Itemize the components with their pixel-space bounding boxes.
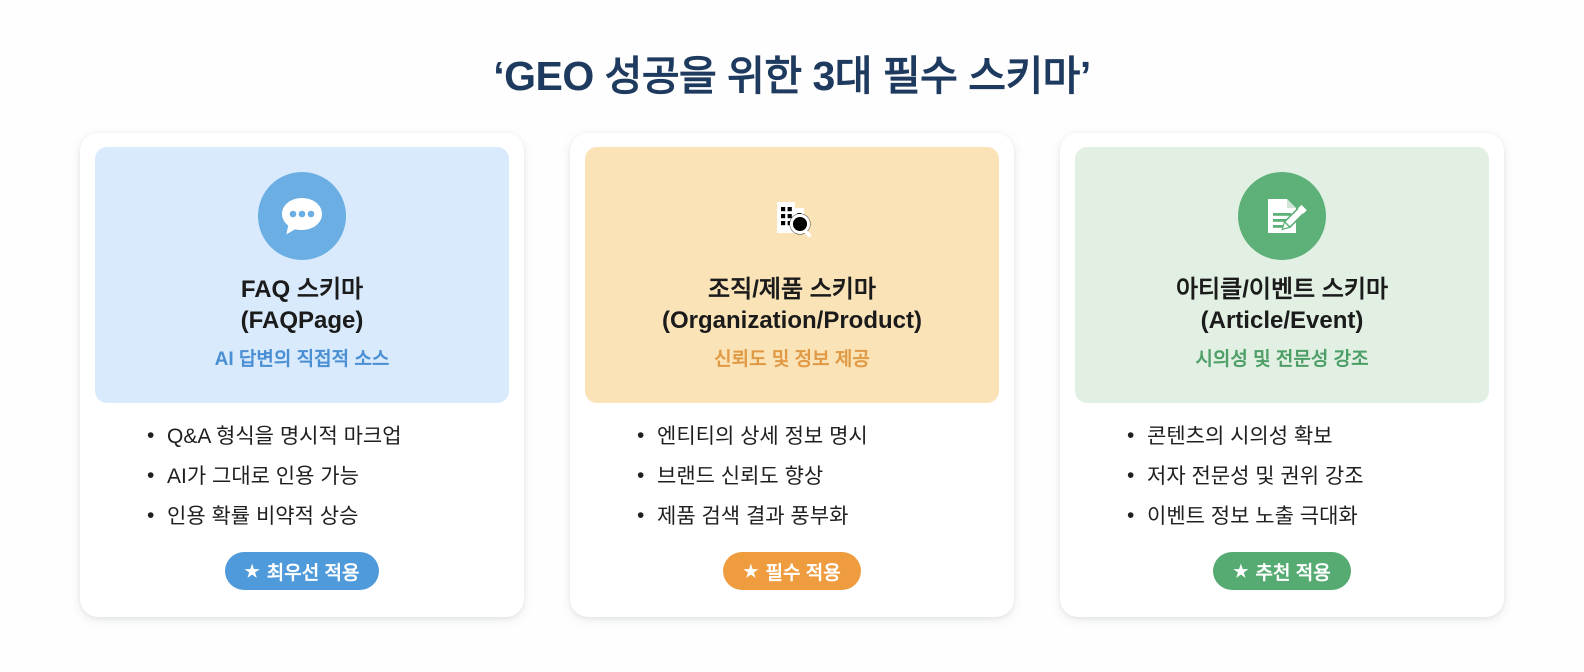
list-item: 브랜드 신뢰도 향상 (637, 466, 999, 487)
list-item: 이벤트 정보 노출 극대화 (1127, 506, 1489, 527)
infographic-canvas: ‘GEO 성공을 위한 3대 필수 스키마’ FAQ 스키마 (FAQPage) (0, 0, 1584, 672)
list-item: Q&A 형식을 명시적 마크업 (147, 426, 509, 447)
list-item: 콘텐츠의 시의성 확보 (1127, 426, 1489, 447)
card-header: 조직/제품 스키마 (Organization/Product) 신뢰도 및 정… (585, 147, 999, 403)
schema-card-organization-product[interactable]: 조직/제품 스키마 (Organization/Product) 신뢰도 및 정… (570, 133, 1014, 617)
card-subtitle: AI 답변의 직접적 소스 (215, 344, 390, 371)
badge-label: 추천 적용 (1256, 558, 1331, 585)
chat-bubble-icon (258, 172, 346, 260)
priority-badge[interactable]: ★ 최우선 적용 (225, 552, 380, 590)
building-search-icon (748, 172, 836, 260)
list-item: 제품 검색 결과 풍부화 (637, 506, 999, 527)
card-title: FAQ 스키마 (FAQPage) (241, 274, 364, 336)
card-title: 조직/제품 스키마 (Organization/Product) (662, 274, 922, 336)
card-title-line2: (Organization/Product) (662, 305, 922, 336)
badge-container: ★ 최우선 적용 (80, 552, 524, 590)
priority-badge[interactable]: ★ 필수 적용 (723, 552, 860, 590)
card-header: FAQ 스키마 (FAQPage) AI 답변의 직접적 소스 (95, 147, 509, 403)
card-title-line1: 조직/제품 스키마 (708, 276, 876, 303)
list-item: 엔티티의 상세 정보 명시 (637, 426, 999, 447)
list-item: 저자 전문성 및 권위 강조 (1127, 466, 1489, 487)
card-title-line1: 아티클/이벤트 스키마 (1176, 276, 1388, 303)
schema-card-faq[interactable]: FAQ 스키마 (FAQPage) AI 답변의 직접적 소스 Q&A 형식을 … (80, 133, 524, 617)
badge-container: ★ 추천 적용 (1060, 552, 1504, 590)
card-title-line1: FAQ 스키마 (241, 276, 363, 303)
page-title: ‘GEO 성공을 위한 3대 필수 스키마’ (0, 42, 1584, 102)
star-icon: ★ (245, 563, 260, 580)
badge-label: 필수 적용 (766, 558, 841, 585)
star-icon: ★ (1233, 563, 1248, 580)
list-item: 인용 확률 비약적 상승 (147, 506, 509, 527)
card-title: 아티클/이벤트 스키마 (Article/Event) (1176, 274, 1388, 336)
badge-label: 최우선 적용 (267, 558, 360, 585)
schema-card-row: FAQ 스키마 (FAQPage) AI 답변의 직접적 소스 Q&A 형식을 … (80, 133, 1504, 617)
list-item: AI가 그대로 인용 가능 (147, 466, 509, 487)
card-title-line2: (Article/Event) (1176, 305, 1388, 336)
feature-list: Q&A 형식을 명시적 마크업 AI가 그대로 인용 가능 인용 확률 비약적 … (95, 426, 509, 546)
document-pencil-icon (1238, 172, 1326, 260)
card-subtitle: 시의성 및 전문성 강조 (1195, 344, 1368, 371)
feature-list: 콘텐츠의 시의성 확보 저자 전문성 및 권위 강조 이벤트 정보 노출 극대화 (1075, 426, 1489, 546)
card-title-line2: (FAQPage) (241, 305, 364, 336)
priority-badge[interactable]: ★ 추천 적용 (1213, 552, 1350, 590)
badge-container: ★ 필수 적용 (570, 552, 1014, 590)
schema-card-article-event[interactable]: 아티클/이벤트 스키마 (Article/Event) 시의성 및 전문성 강조… (1060, 133, 1504, 617)
feature-list: 엔티티의 상세 정보 명시 브랜드 신뢰도 향상 제품 검색 결과 풍부화 (585, 426, 999, 546)
star-icon: ★ (743, 563, 758, 580)
card-subtitle: 신뢰도 및 정보 제공 (714, 344, 870, 371)
card-header: 아티클/이벤트 스키마 (Article/Event) 시의성 및 전문성 강조 (1075, 147, 1489, 403)
